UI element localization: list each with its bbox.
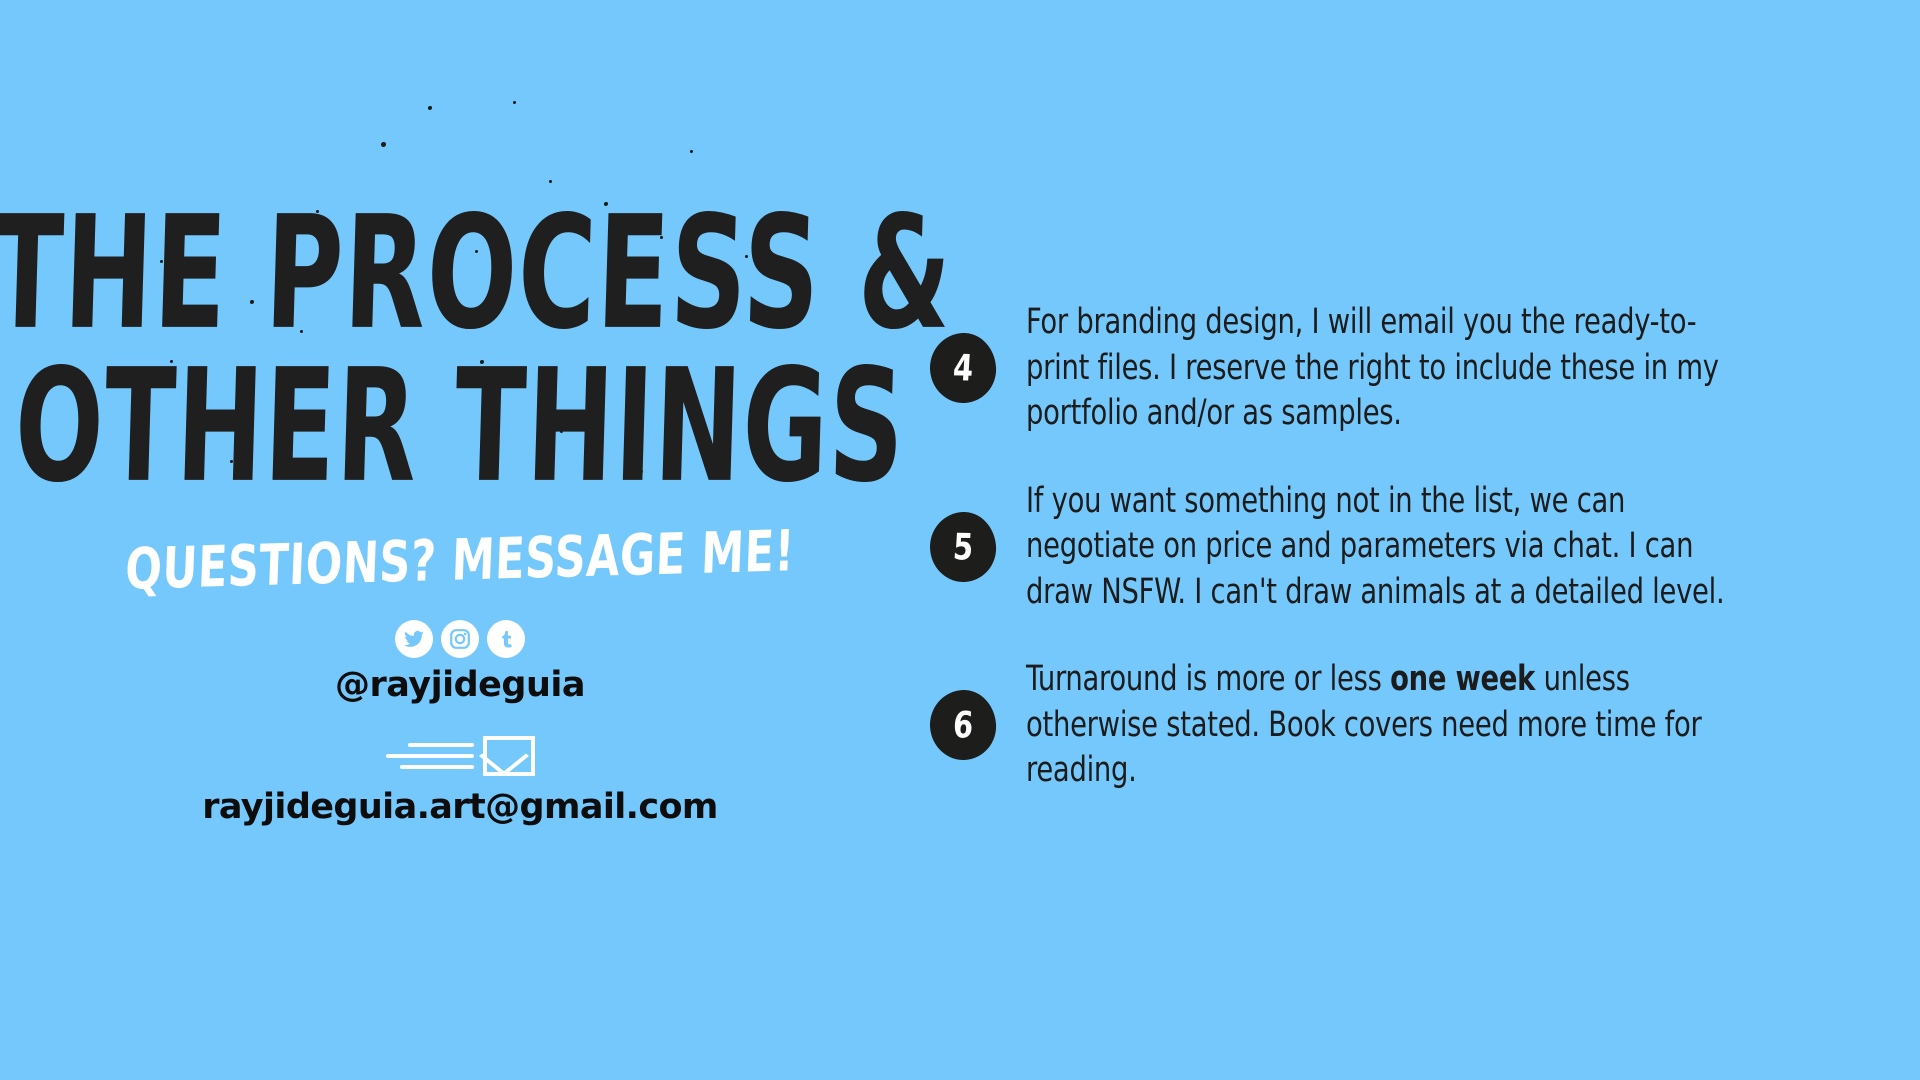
instagram-icon[interactable] [441,620,479,658]
item-body-text: If you want something not in the list, w… [1026,479,1725,616]
item-number: 6 [952,707,974,744]
page-title-line-2: OTHER THINGS [0,354,922,499]
ink-speck [428,106,432,110]
item-number-badge: 5 [928,510,998,583]
item-body-text: Turnaround is more or less one week unle… [1026,657,1725,794]
ink-speck [381,142,386,147]
email-icon-group [0,735,920,777]
item-text-before: Turnaround is more or less [1026,659,1390,699]
email-address[interactable]: rayjideguia.art@gmail.com [0,787,920,827]
list-item: 4 For branding design, I will email you … [930,300,1830,437]
social-handle[interactable]: @rayjideguia [0,665,920,705]
item-number: 5 [952,528,974,565]
left-column: THE PROCESS & OTHER THINGS QUESTIONS? ME… [0,225,920,827]
list-item: 5 If you want something not in the list,… [930,479,1830,616]
twitter-icon[interactable] [395,620,433,658]
tumblr-icon[interactable] [487,620,525,658]
subtitle-message-prompt: QUESTIONS? MESSAGE ME! [0,516,922,607]
page-title-line-1: THE PROCESS & [0,201,931,346]
speed-line [386,754,474,758]
item-number: 4 [952,350,974,387]
process-list: 4 For branding design, I will email you … [930,300,1830,794]
envelope-icon [483,736,535,776]
item-number-badge: 4 [928,332,998,405]
speed-line [408,743,474,747]
item-body-text: For branding design, I will email you th… [1026,300,1725,437]
list-item: 6 Turnaround is more or less one week un… [930,657,1830,794]
ink-speck [513,101,516,104]
item-text-before: If you want something not in the list, w… [1026,481,1724,612]
social-links-row [0,620,920,658]
item-text-emphasis: one week [1390,659,1535,699]
speed-line [400,765,474,769]
item-number-badge: 6 [928,689,998,762]
item-text-before: For branding design, I will email you th… [1026,302,1719,433]
ink-speck [690,150,693,153]
speed-lines-decoration [386,743,474,769]
slide-canvas: THE PROCESS & OTHER THINGS QUESTIONS? ME… [0,0,1920,1080]
